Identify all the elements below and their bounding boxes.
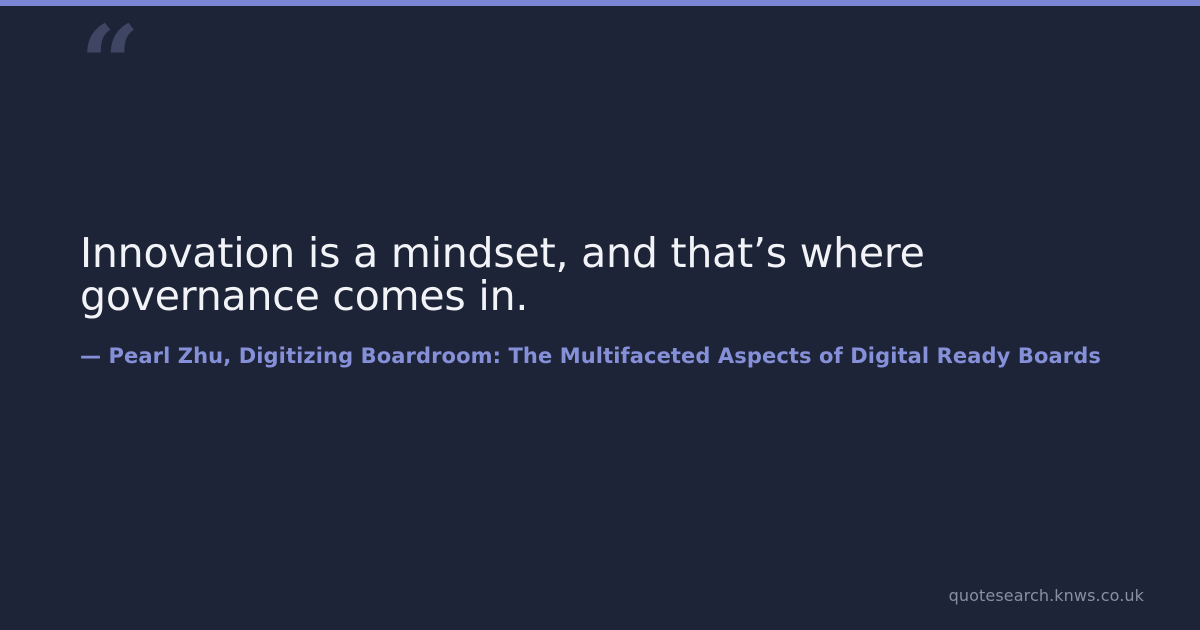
quote-card: “ Innovation is a mindset, and that’s wh…: [0, 0, 1200, 630]
top-accent-bar: [0, 0, 1200, 6]
attribution-container: — Pearl Zhu, Digitizing Boardroom: The M…: [80, 344, 1200, 378]
source-url: quotesearch.knws.co.uk: [949, 586, 1144, 605]
quote-text: Innovation is a mindset, and that’s wher…: [80, 232, 1140, 317]
quote-attribution: — Pearl Zhu, Digitizing Boardroom: The M…: [80, 344, 1101, 368]
quotation-mark-icon: “: [80, 12, 138, 116]
quote-body: Innovation is a mindset, and that’s wher…: [80, 232, 1140, 317]
